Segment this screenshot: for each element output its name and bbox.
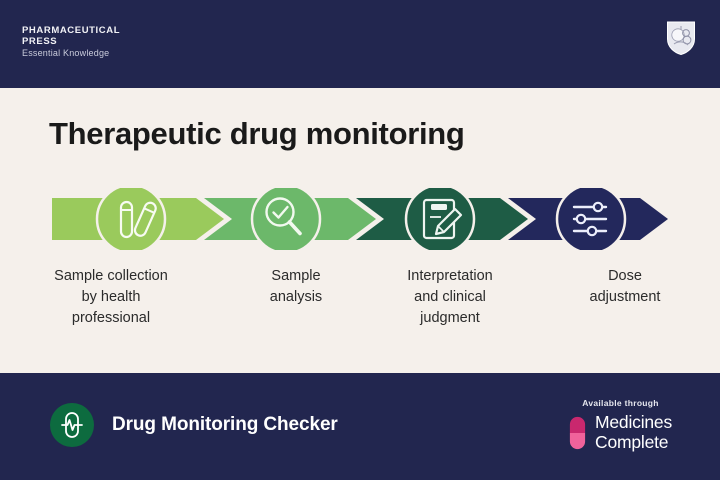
capsule-icon xyxy=(569,416,586,450)
flow-step-icon-4 xyxy=(557,188,625,250)
product-name: Drug Monitoring Checker xyxy=(112,414,338,436)
header-bar: PHARMACEUTICAL PRESS Essential Knowledge xyxy=(0,0,720,88)
step-label-sample-analysis: Sample analysis xyxy=(222,266,370,329)
product-badge[interactable]: Drug Monitoring Checker xyxy=(50,403,338,447)
brand-line-2: PRESS xyxy=(22,37,120,48)
footer-bar: Drug Monitoring Checker Available throug… xyxy=(0,373,720,480)
step-label-line: by health xyxy=(6,287,216,308)
step-label-line: adjustment xyxy=(536,287,714,308)
pill-pulse-icon xyxy=(50,403,94,447)
step-label-line: Interpretation xyxy=(376,266,524,287)
partner-line-1: Medicines xyxy=(595,413,672,433)
shield-crest-icon xyxy=(666,20,696,56)
step-label-sample-collection: Sample collection by health professional xyxy=(0,266,222,329)
step-label-line: analysis xyxy=(228,287,364,308)
page-title: Therapeutic drug monitoring xyxy=(49,116,465,152)
medicines-complete-lockup[interactable]: Medicines Complete xyxy=(569,413,672,452)
step-label-line: judgment xyxy=(376,308,524,329)
brand-logo: PHARMACEUTICAL PRESS Essential Knowledge xyxy=(22,26,120,58)
infographic-root: PHARMACEUTICAL PRESS Essential Knowledge… xyxy=(0,0,720,480)
flow-step-icon-1 xyxy=(97,188,165,250)
step-label-line: Sample xyxy=(228,266,364,287)
flow-step-icon-3 xyxy=(406,188,474,250)
step-label-line: and clinical xyxy=(376,287,524,308)
step-label-line: Dose xyxy=(536,266,714,287)
availability-block: Available through Medicines Complete xyxy=(569,398,672,452)
process-step-labels: Sample collection by health professional… xyxy=(0,266,720,329)
medicines-complete-wordmark: Medicines Complete xyxy=(595,413,672,452)
availability-label: Available through xyxy=(569,398,672,408)
brand-subtitle: Essential Knowledge xyxy=(22,48,120,58)
step-label-line: professional xyxy=(6,308,216,329)
step-label-interpretation: Interpretation and clinical judgment xyxy=(370,266,530,329)
step-label-line: Sample collection xyxy=(6,266,216,287)
step-label-dose-adjustment: Dose adjustment xyxy=(530,266,720,329)
main-panel: Therapeutic drug monitoring xyxy=(0,88,720,373)
partner-line-2: Complete xyxy=(595,433,672,453)
process-flow-band xyxy=(0,188,720,250)
flow-step-icon-2 xyxy=(252,188,320,250)
